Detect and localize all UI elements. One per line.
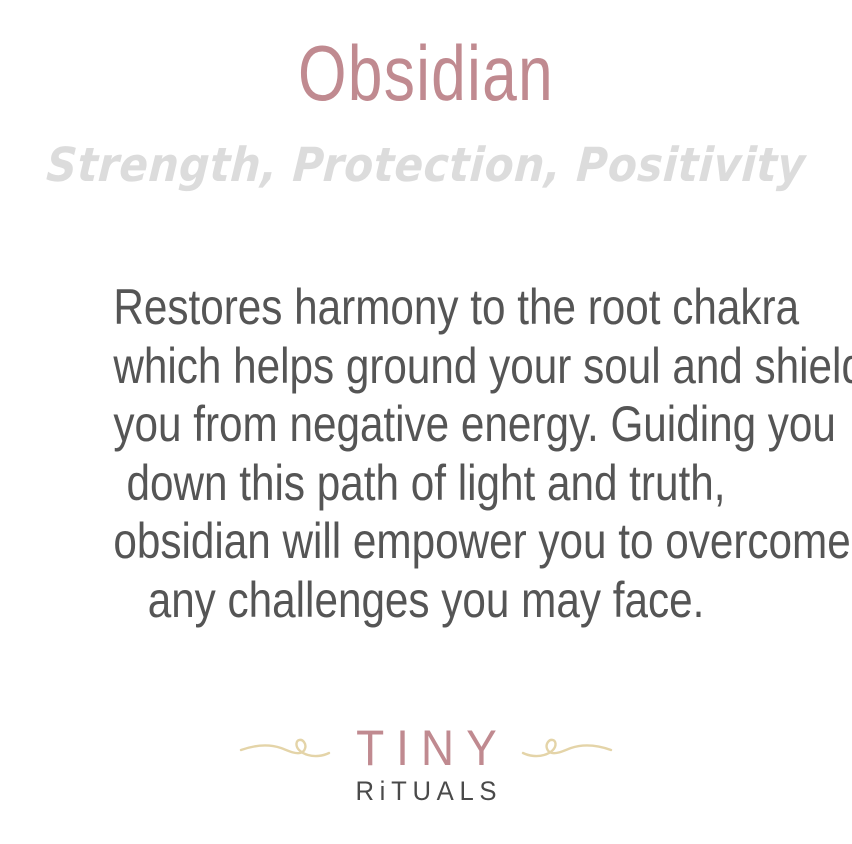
description-paragraph: Restores harmony to the root chakra whic… — [56, 278, 796, 629]
page-title: Obsidian — [85, 26, 767, 120]
brand-name-secondary: RiTUALS — [21, 776, 830, 806]
brand-logo-row: TINY — [0, 718, 852, 778]
left-swash-flourish-icon — [239, 728, 331, 768]
description-line: you from negative energy. Guiding you — [113, 395, 738, 454]
description-line: down this path of light and truth, — [113, 454, 738, 513]
description-line: which helps ground your soul and shield — [113, 337, 738, 396]
brand-name-primary: TINY — [344, 722, 509, 774]
brand-logo: TINY RiTUALS — [0, 718, 852, 818]
right-swash-flourish-icon — [521, 728, 613, 768]
crystal-meaning-card: Obsidian Strength, Protection, Positivit… — [0, 0, 852, 844]
page-subtitle: Strength, Protection, Positivity — [41, 133, 812, 199]
description-line: Restores harmony to the root chakra — [113, 278, 738, 337]
description-line: any challenges you may face. — [113, 571, 738, 630]
description-line: obsidian will empower you to overcome — [113, 512, 738, 571]
